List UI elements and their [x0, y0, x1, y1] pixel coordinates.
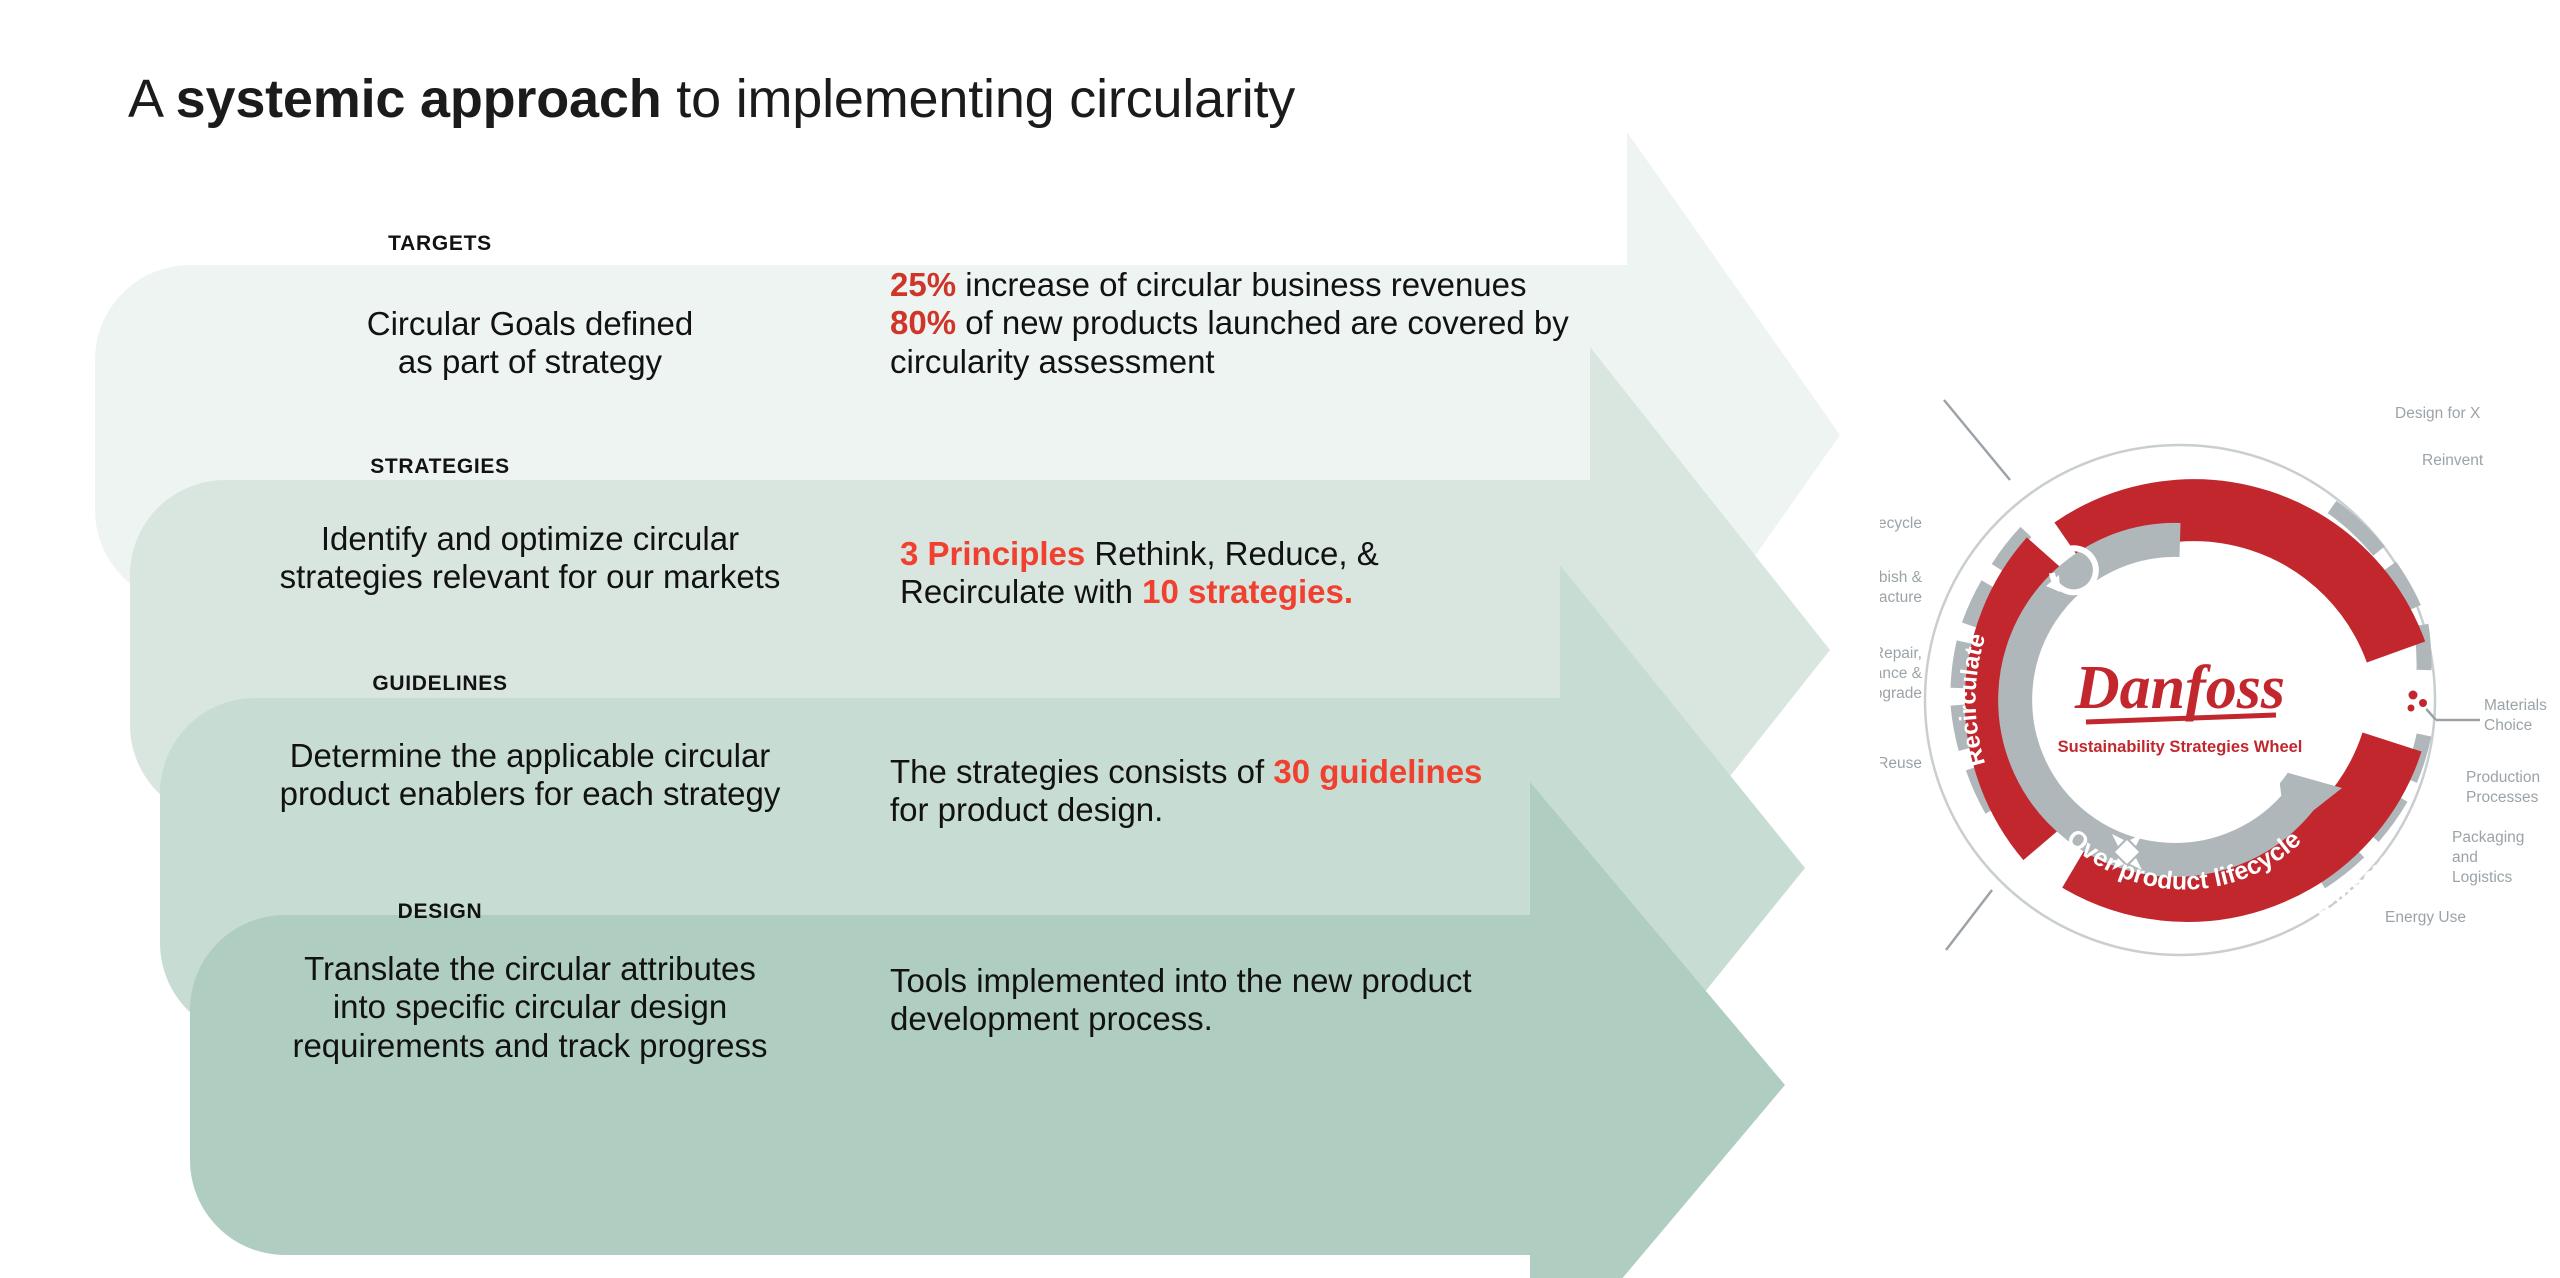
wheel-outer-label-production-processes-1: Production [2466, 769, 2540, 786]
danfoss-logo: Danfoss [2074, 654, 2285, 722]
danfoss-wordmark: Danfoss [2074, 654, 2285, 722]
text-run-2-0: 10 strategies. [1142, 573, 1353, 610]
text-run-0-0: 25% [890, 266, 956, 303]
wheel-outer-label-repair-2: Maintenance & [1880, 665, 1923, 682]
step-right-text-design: Tools implemented into the new product d… [890, 962, 1530, 1039]
text-run-2-0: for product design. [890, 791, 1163, 828]
text-run-3-0: of new products launched are covered by … [890, 304, 1569, 379]
wheel-outer-label-design-for-x: Design for X [2395, 405, 2481, 422]
text-run-2-0: 80% [890, 304, 956, 341]
wheel-outer-label-refurbish-2: Remanufacture [1880, 589, 1922, 606]
wheel-outer-label-reuse: Reuse [1880, 755, 1922, 772]
text-run-0-0: The strategies consists of [890, 753, 1273, 790]
step-left-text-targets: Circular Goals definedas part of strateg… [185, 305, 875, 382]
wheel-outer-label-repair-3: Upgrade [1880, 685, 1922, 702]
wheel-outer-label-packaging-2: and [2452, 849, 2478, 866]
wheel-outer-label-packaging-3: Logistics [2452, 869, 2513, 886]
step-label-guidelines: GUIDELINES [330, 672, 550, 696]
wheel-subtitle: Sustainability Strategies Wheel [2058, 738, 2303, 756]
wheel-outer-label-repair-1: Repair, [1880, 645, 1922, 662]
slide-canvas: A systemic approach to implementing circ… [0, 0, 2560, 1278]
danfoss-sustainability-strategies-wheel: Danfoss Sustainability Strategies Wheel … [1880, 370, 2560, 1030]
step-left-text-design: Translate the circular attributesinto sp… [185, 950, 875, 1065]
wheel-outer-label-reinvent: Reinvent [2422, 452, 2484, 469]
wheel-outer-label-refurbish-1: Refurbish & [1880, 569, 1923, 586]
text-run-0-0: Tools implemented into the new product d… [890, 962, 1472, 1037]
wheel-outer-label-materials-choice-2: Choice [2484, 717, 2532, 734]
rethink-head-gear-icon [2390, 675, 2430, 729]
text-run-1-0: increase of circular business revenues [956, 266, 1526, 303]
wheel-outer-label-packaging-1: Packaging [2452, 829, 2524, 846]
wheel-outer-label-materials-choice-1: Materials [2484, 697, 2547, 714]
wheel-graphic: Danfoss Sustainability Strategies Wheel … [1880, 370, 2560, 1030]
step-right-text-strategies: 3 Principles Rethink, Reduce, & Recircul… [900, 535, 1540, 612]
step-right-text-guidelines: The strategies consists of 30 guidelines… [890, 753, 1510, 830]
step-left-text-guidelines: Determine the applicable circularproduct… [185, 737, 875, 814]
step-right-text-targets: 25% increase of circular business revenu… [890, 266, 1570, 381]
text-run-0-0: 3 Principles [900, 535, 1085, 572]
step-left-text-strategies: Identify and optimize circularstrategies… [185, 520, 875, 597]
text-run-1-0: 30 guidelines [1273, 753, 1482, 790]
step-label-strategies: STRATEGIES [330, 455, 550, 479]
step-label-targets: TARGETS [330, 232, 550, 256]
wheel-outer-label-production-processes-2: Processes [2466, 789, 2539, 806]
wheel-outer-label-recycle: Recycle [1880, 515, 1922, 532]
step-label-design: DESIGN [330, 900, 550, 924]
wheel-outer-label-energy-use: Energy Use [2385, 909, 2466, 926]
